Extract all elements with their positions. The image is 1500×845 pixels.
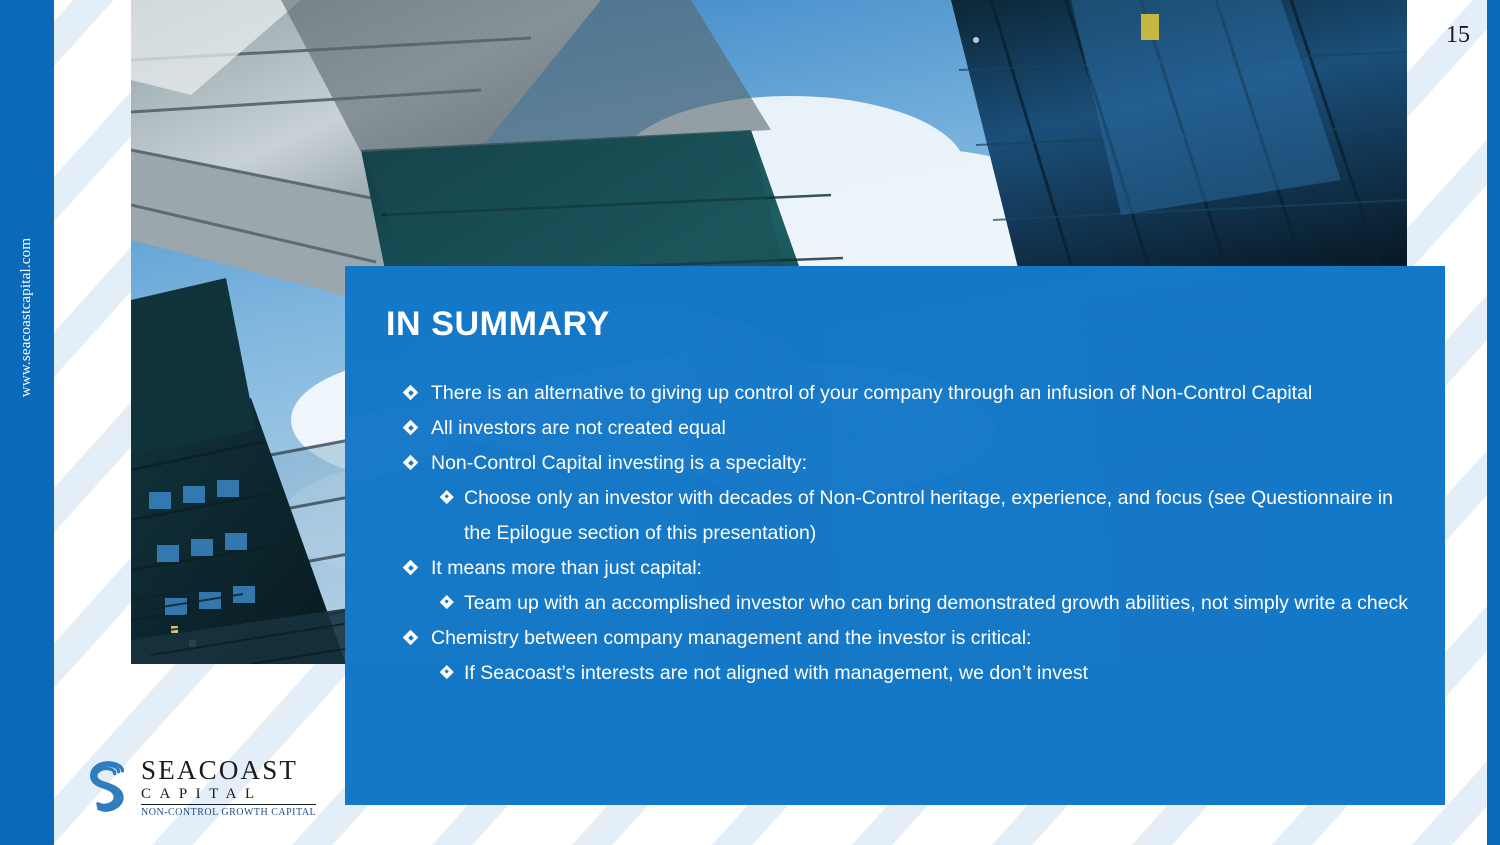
slide-canvas: IN SUMMARY There is an alternative to gi… (0, 0, 1500, 845)
list-item: Team up with an accomplished investor wh… (386, 586, 1425, 621)
logo-subname: CAPITAL (141, 787, 316, 805)
diamond-bullet-icon (404, 631, 419, 646)
summary-bullet-list: There is an alternative to giving up con… (386, 376, 1425, 691)
list-item: There is an alternative to giving up con… (386, 376, 1425, 411)
diamond-bullet-icon (404, 561, 419, 576)
company-logo: SEACOAST CAPITAL NON-CONTROL GROWTH CAPI… (84, 757, 316, 818)
page-number: 15 (1446, 22, 1470, 49)
diamond-bullet-icon (404, 386, 419, 401)
diamond-bullet-icon (441, 666, 454, 679)
diamond-bullet-icon (404, 421, 419, 436)
left-brand-bar (0, 0, 54, 845)
list-item-text: Chemistry between company management and… (431, 621, 1425, 656)
summary-panel-content: IN SUMMARY There is an alternative to gi… (345, 266, 1445, 805)
list-item-text: All investors are not created equal (431, 411, 1425, 446)
diamond-bullet-icon (441, 596, 454, 609)
list-item: Non-Control Capital investing is a speci… (386, 446, 1425, 481)
list-item-text: Choose only an investor with decades of … (464, 481, 1425, 551)
list-item-text: If Seacoast’s interests are not aligned … (464, 656, 1425, 691)
list-item-text: It means more than just capital: (431, 551, 1425, 586)
list-item: All investors are not created equal (386, 411, 1425, 446)
list-item: It means more than just capital: (386, 551, 1425, 586)
page-title: IN SUMMARY (386, 305, 610, 344)
logo-tagline: NON-CONTROL GROWTH CAPITAL (141, 808, 316, 818)
seacoast-ribbon-s-icon (84, 759, 132, 817)
right-brand-bar (1487, 0, 1500, 845)
list-item-text: Non-Control Capital investing is a speci… (431, 446, 1425, 481)
list-item-text: Team up with an accomplished investor wh… (464, 586, 1425, 621)
list-item: Chemistry between company management and… (386, 621, 1425, 656)
diamond-bullet-icon (404, 456, 419, 471)
logo-name: SEACOAST (141, 757, 316, 784)
list-item: If Seacoast’s interests are not aligned … (386, 656, 1425, 691)
diamond-bullet-icon (441, 491, 454, 504)
list-item-text: There is an alternative to giving up con… (431, 376, 1425, 411)
list-item: Choose only an investor with decades of … (386, 481, 1425, 551)
